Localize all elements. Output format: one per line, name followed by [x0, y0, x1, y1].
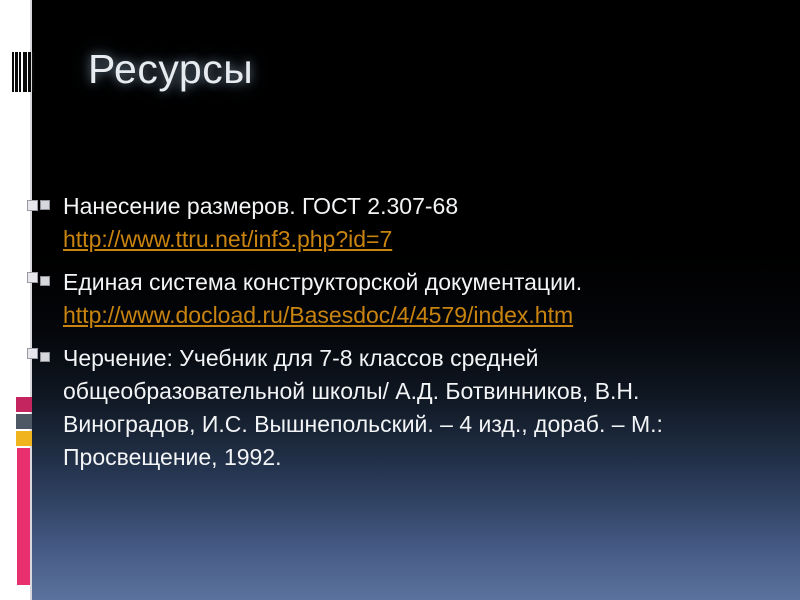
- list-item-text: Нанесение размеров. ГОСТ 2.307-68: [63, 190, 756, 223]
- list-item-text: Черчение: Учебник для 7-8 классов средне…: [63, 342, 756, 474]
- list-item-body: Единая система конструкторской документа…: [63, 266, 756, 332]
- edge-marker-1: [27, 200, 38, 211]
- color-chip-stack: [16, 397, 32, 585]
- hyperlink[interactable]: http://www.docload.ru/Basesdoc/4/4579/in…: [63, 302, 573, 328]
- edge-marker-3: [27, 348, 38, 359]
- page-title: Ресурсы: [88, 46, 253, 93]
- list-item: Единая система конструкторской документа…: [40, 266, 756, 332]
- list-item: Черчение: Учебник для 7-8 классов средне…: [40, 342, 756, 474]
- chip-magenta: [16, 397, 32, 412]
- list-item: Нанесение размеров. ГОСТ 2.307-68 http:/…: [40, 190, 756, 256]
- presentation-slide: Ресурсы Нанесение размеров. ГОСТ 2.307-6…: [0, 0, 800, 600]
- hyperlink[interactable]: http://www.ttru.net/inf3.php?id=7: [63, 226, 392, 252]
- chip-slate: [16, 414, 32, 429]
- list-item-body: Черчение: Учебник для 7-8 классов средне…: [63, 342, 756, 474]
- square-bullet-icon: [40, 352, 50, 362]
- edge-marker-2: [27, 272, 38, 283]
- list-item-body: Нанесение размеров. ГОСТ 2.307-68 http:/…: [63, 190, 756, 256]
- chip-gold: [16, 431, 32, 446]
- square-bullet-icon: [40, 276, 50, 286]
- chip-pink-bar: [17, 448, 30, 585]
- barcode-icon: [12, 52, 34, 92]
- list-item-text: Единая система конструкторской документа…: [63, 266, 756, 299]
- bullet-list: Нанесение размеров. ГОСТ 2.307-68 http:/…: [40, 190, 756, 484]
- square-bullet-icon: [40, 200, 50, 210]
